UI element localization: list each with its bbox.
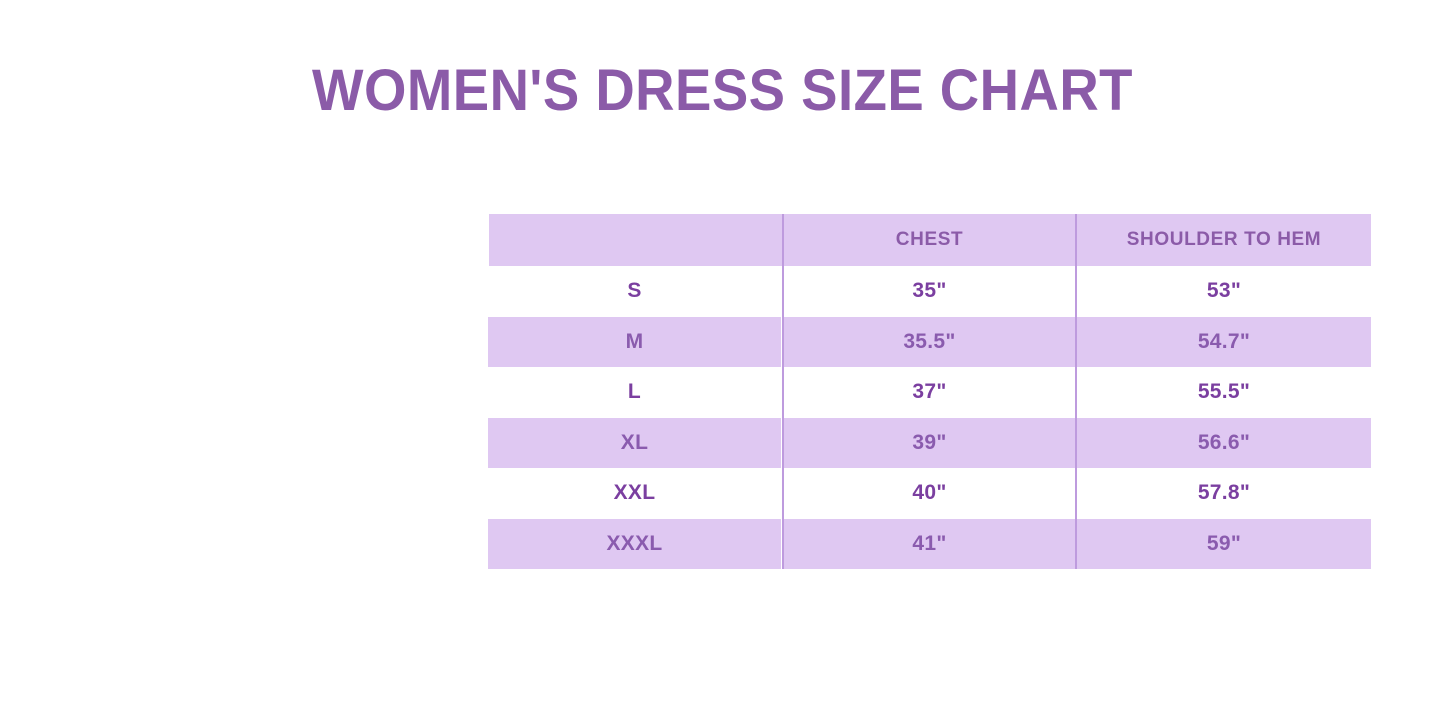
table-header-row: CHEST SHOULDER TO HEM xyxy=(489,214,1371,266)
table-header: CHEST SHOULDER TO HEM xyxy=(489,214,1371,266)
size-chart-page: WOMEN'S DRESS SIZE CHART CHEST SHOULDER … xyxy=(0,0,1445,723)
page-title: WOMEN'S DRESS SIZE CHART xyxy=(43,57,1401,125)
column-header-size xyxy=(489,214,783,266)
cell-shoulder-to-hem: 56.6" xyxy=(1076,418,1371,469)
cell-shoulder-to-hem: 53" xyxy=(1076,266,1371,317)
cell-shoulder-to-hem: 55.5" xyxy=(1076,367,1371,418)
cell-chest: 35" xyxy=(783,266,1076,317)
cell-size: L xyxy=(488,367,782,418)
cell-chest: 41" xyxy=(783,519,1076,570)
column-header-chest: CHEST xyxy=(783,214,1076,266)
cell-size: M xyxy=(488,317,782,368)
cell-size: XXXL xyxy=(488,519,782,570)
table-row: XL 39" 56.6" xyxy=(489,418,1371,469)
cell-shoulder-to-hem: 59" xyxy=(1076,519,1371,570)
cell-shoulder-to-hem: 57.8" xyxy=(1076,468,1371,519)
cell-size: XL xyxy=(488,418,782,469)
table-row: L 37" 55.5" xyxy=(489,367,1371,418)
table-row: M 35.5" 54.7" xyxy=(489,317,1371,368)
table-body: S 35" 53" M 35.5" 54.7" L 37" 55.5" XL 3… xyxy=(489,266,1371,569)
cell-size: S xyxy=(488,266,782,317)
column-header-shoulder-to-hem: SHOULDER TO HEM xyxy=(1076,214,1371,266)
cell-chest: 39" xyxy=(783,418,1076,469)
table-row: S 35" 53" xyxy=(489,266,1371,317)
cell-size: XXL xyxy=(488,468,782,519)
cell-chest: 40" xyxy=(783,468,1076,519)
table-row: XXL 40" 57.8" xyxy=(489,468,1371,519)
table-row: XXXL 41" 59" xyxy=(489,519,1371,570)
cell-chest: 35.5" xyxy=(783,317,1076,368)
cell-shoulder-to-hem: 54.7" xyxy=(1076,317,1371,368)
size-chart-table: CHEST SHOULDER TO HEM S 35" 53" M 35.5" … xyxy=(489,214,1371,569)
cell-chest: 37" xyxy=(783,367,1076,418)
